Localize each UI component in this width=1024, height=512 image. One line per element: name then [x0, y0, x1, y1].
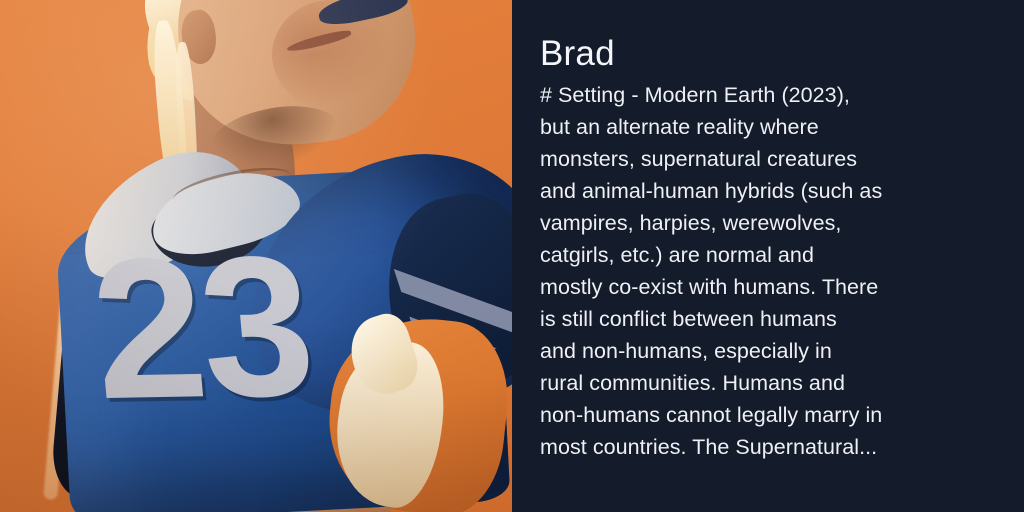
- portrait-artwork: 23: [0, 0, 512, 512]
- character-description: # Setting - Modern Earth (2023), but an …: [540, 79, 940, 463]
- character-info-pane: Brad # Setting - Modern Earth (2023), bu…: [512, 0, 1024, 512]
- character-portrait[interactable]: 23: [0, 0, 512, 512]
- jersey-number: 23: [85, 226, 373, 430]
- character-name: Brad: [540, 33, 984, 75]
- character-card: 23 Brad # Setting - Modern Earth (2023),…: [0, 0, 1024, 512]
